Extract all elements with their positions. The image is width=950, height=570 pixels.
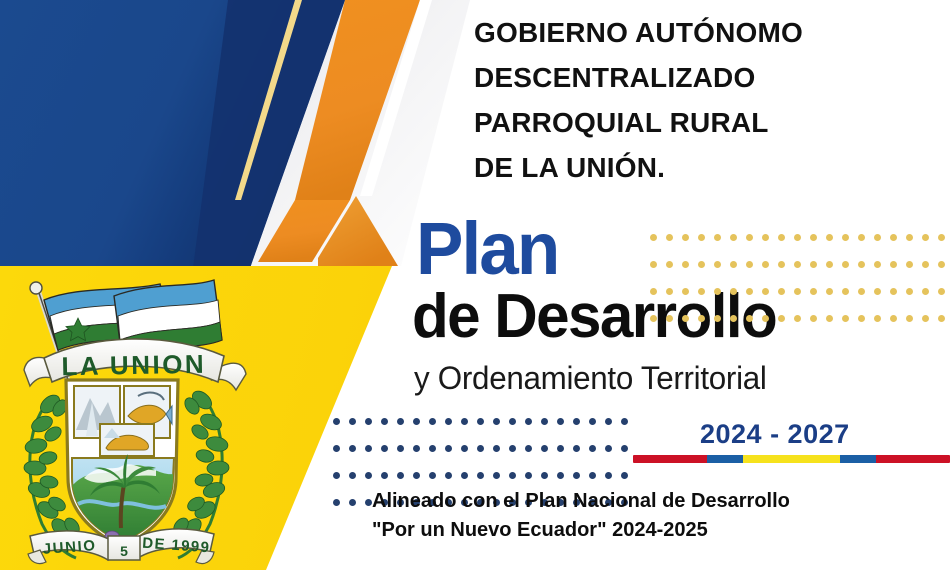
emblem-bottom-banner-left: JUNIO bbox=[42, 537, 97, 558]
dot bbox=[938, 261, 945, 268]
dot bbox=[842, 261, 849, 268]
dot bbox=[778, 315, 785, 322]
dot bbox=[381, 418, 388, 425]
dot bbox=[746, 234, 753, 241]
dot bbox=[874, 288, 881, 295]
dot bbox=[810, 261, 817, 268]
dot bbox=[493, 418, 500, 425]
dot bbox=[413, 472, 420, 479]
dot bbox=[778, 234, 785, 241]
dot bbox=[746, 288, 753, 295]
dot bbox=[349, 499, 356, 506]
dot bbox=[573, 472, 580, 479]
dot bbox=[682, 261, 689, 268]
dot bbox=[509, 472, 516, 479]
institution-heading-line-4: DE LA UNIÓN. bbox=[474, 145, 944, 190]
flag-bar-segment bbox=[633, 455, 707, 463]
dot bbox=[922, 234, 929, 241]
dot bbox=[445, 472, 452, 479]
dot bbox=[541, 445, 548, 452]
emblem-bottom-banner-center: 5 bbox=[120, 543, 128, 559]
dot bbox=[730, 234, 737, 241]
dot bbox=[826, 288, 833, 295]
dot bbox=[666, 234, 673, 241]
dot bbox=[730, 315, 737, 322]
emblem-top-banner-text: LA UNION bbox=[61, 349, 206, 382]
flag-bar-segment bbox=[840, 455, 876, 463]
dot bbox=[938, 315, 945, 322]
alignment-note: Alineado con el Plan Nacional de Desarro… bbox=[372, 487, 942, 545]
dot bbox=[890, 315, 897, 322]
dot bbox=[762, 261, 769, 268]
dot bbox=[557, 418, 564, 425]
dot bbox=[794, 261, 801, 268]
dot bbox=[794, 288, 801, 295]
dot bbox=[461, 472, 468, 479]
dot bbox=[698, 315, 705, 322]
dot bbox=[698, 288, 705, 295]
dot bbox=[858, 315, 865, 322]
dot bbox=[650, 315, 657, 322]
dot bbox=[666, 261, 673, 268]
dot bbox=[605, 418, 612, 425]
dot bbox=[762, 315, 769, 322]
dot bbox=[541, 418, 548, 425]
dot bbox=[333, 472, 340, 479]
dot bbox=[826, 234, 833, 241]
dot bbox=[698, 234, 705, 241]
dot bbox=[906, 288, 913, 295]
dot bbox=[746, 315, 753, 322]
emblem-bottom-banner-right: DE 1999 bbox=[142, 535, 211, 557]
yellow-dot-grid bbox=[650, 228, 950, 327]
dot bbox=[906, 261, 913, 268]
dot-row bbox=[650, 228, 950, 246]
title-line-plan: Plan bbox=[416, 212, 558, 286]
dot bbox=[461, 418, 468, 425]
dot-row bbox=[333, 466, 637, 484]
dot bbox=[381, 445, 388, 452]
dot bbox=[938, 234, 945, 241]
dot bbox=[714, 234, 721, 241]
dot bbox=[714, 315, 721, 322]
dot bbox=[778, 288, 785, 295]
dot bbox=[906, 315, 913, 322]
dot bbox=[682, 315, 689, 322]
alignment-note-line-1: Alineado con el Plan Nacional de Desarro… bbox=[372, 487, 942, 516]
dot bbox=[429, 418, 436, 425]
dot bbox=[874, 261, 881, 268]
dot bbox=[730, 288, 737, 295]
dot bbox=[890, 234, 897, 241]
dot bbox=[365, 445, 372, 452]
dot bbox=[650, 261, 657, 268]
dot bbox=[445, 445, 452, 452]
dot bbox=[397, 472, 404, 479]
dot bbox=[381, 472, 388, 479]
institution-heading-line-1: GOBIERNO AUTÓNOMO bbox=[474, 10, 944, 55]
dot bbox=[589, 445, 596, 452]
title-line-territorial: y Ordenamiento Territorial bbox=[414, 362, 767, 394]
dot bbox=[666, 315, 673, 322]
dot bbox=[874, 234, 881, 241]
dot bbox=[525, 472, 532, 479]
dot bbox=[461, 445, 468, 452]
dot bbox=[810, 315, 817, 322]
dot bbox=[650, 288, 657, 295]
dot bbox=[794, 234, 801, 241]
cover-banner: GOBIERNO AUTÓNOMO DESCENTRALIZADO PARROQ… bbox=[0, 0, 950, 570]
dot bbox=[858, 234, 865, 241]
dot bbox=[621, 418, 628, 425]
dot bbox=[429, 472, 436, 479]
dot bbox=[922, 288, 929, 295]
dot bbox=[333, 499, 340, 506]
dot bbox=[365, 499, 372, 506]
dot bbox=[714, 261, 721, 268]
dot bbox=[922, 315, 929, 322]
dot bbox=[842, 234, 849, 241]
dot bbox=[333, 418, 340, 425]
dot-row bbox=[333, 412, 637, 430]
dot-row bbox=[650, 282, 950, 300]
dot bbox=[397, 418, 404, 425]
dot bbox=[445, 418, 452, 425]
dot bbox=[573, 418, 580, 425]
dot bbox=[810, 288, 817, 295]
dot-row bbox=[650, 255, 950, 273]
dot bbox=[938, 288, 945, 295]
dot bbox=[605, 445, 612, 452]
dot bbox=[794, 315, 801, 322]
dot bbox=[509, 445, 516, 452]
dot bbox=[810, 234, 817, 241]
dot bbox=[589, 418, 596, 425]
institution-heading-line-3: PARROQUIAL RURAL bbox=[474, 100, 944, 145]
dot bbox=[413, 445, 420, 452]
dot bbox=[858, 288, 865, 295]
dot bbox=[874, 315, 881, 322]
dot bbox=[333, 445, 340, 452]
dot bbox=[557, 445, 564, 452]
period-badge: 2024 - 2027 bbox=[700, 419, 850, 450]
dot bbox=[746, 261, 753, 268]
dot bbox=[477, 445, 484, 452]
dot bbox=[730, 261, 737, 268]
dot bbox=[826, 315, 833, 322]
emblem-shield bbox=[66, 380, 178, 546]
dot bbox=[698, 261, 705, 268]
coat-of-arms-la-union: LA UNION bbox=[8, 278, 258, 570]
dot bbox=[589, 472, 596, 479]
dot bbox=[477, 472, 484, 479]
dot bbox=[682, 234, 689, 241]
dot bbox=[349, 445, 356, 452]
dot bbox=[493, 445, 500, 452]
dot bbox=[650, 234, 657, 241]
dot bbox=[493, 472, 500, 479]
dot bbox=[778, 261, 785, 268]
dot bbox=[858, 261, 865, 268]
dot bbox=[762, 288, 769, 295]
dot bbox=[666, 288, 673, 295]
flag-bar-segment bbox=[876, 455, 950, 463]
dot-row bbox=[650, 309, 950, 327]
flag-bar-segment bbox=[743, 455, 840, 463]
dot bbox=[525, 445, 532, 452]
dot bbox=[826, 261, 833, 268]
dot bbox=[682, 288, 689, 295]
dot bbox=[509, 418, 516, 425]
dot bbox=[621, 472, 628, 479]
ecuador-flag-bar bbox=[633, 455, 950, 463]
dot bbox=[349, 418, 356, 425]
dot bbox=[890, 288, 897, 295]
institution-heading-line-2: DESCENTRALIZADO bbox=[474, 55, 944, 100]
dot bbox=[842, 288, 849, 295]
dot bbox=[413, 418, 420, 425]
dot bbox=[349, 472, 356, 479]
dot bbox=[557, 472, 564, 479]
dot bbox=[762, 234, 769, 241]
dot bbox=[906, 234, 913, 241]
alignment-note-line-2: "Por un Nuevo Ecuador" 2024-2025 bbox=[372, 516, 942, 545]
dot bbox=[477, 418, 484, 425]
dot bbox=[397, 445, 404, 452]
dot bbox=[365, 418, 372, 425]
institution-heading: GOBIERNO AUTÓNOMO DESCENTRALIZADO PARROQ… bbox=[474, 10, 944, 190]
dot bbox=[714, 288, 721, 295]
flag-bar-segment bbox=[707, 455, 743, 463]
dot-row bbox=[333, 439, 637, 457]
dot bbox=[525, 418, 532, 425]
dot bbox=[621, 445, 628, 452]
dot bbox=[429, 445, 436, 452]
dot bbox=[573, 445, 580, 452]
dot bbox=[922, 261, 929, 268]
dot bbox=[541, 472, 548, 479]
dot bbox=[842, 315, 849, 322]
dot bbox=[890, 261, 897, 268]
dot bbox=[365, 472, 372, 479]
dot bbox=[605, 472, 612, 479]
